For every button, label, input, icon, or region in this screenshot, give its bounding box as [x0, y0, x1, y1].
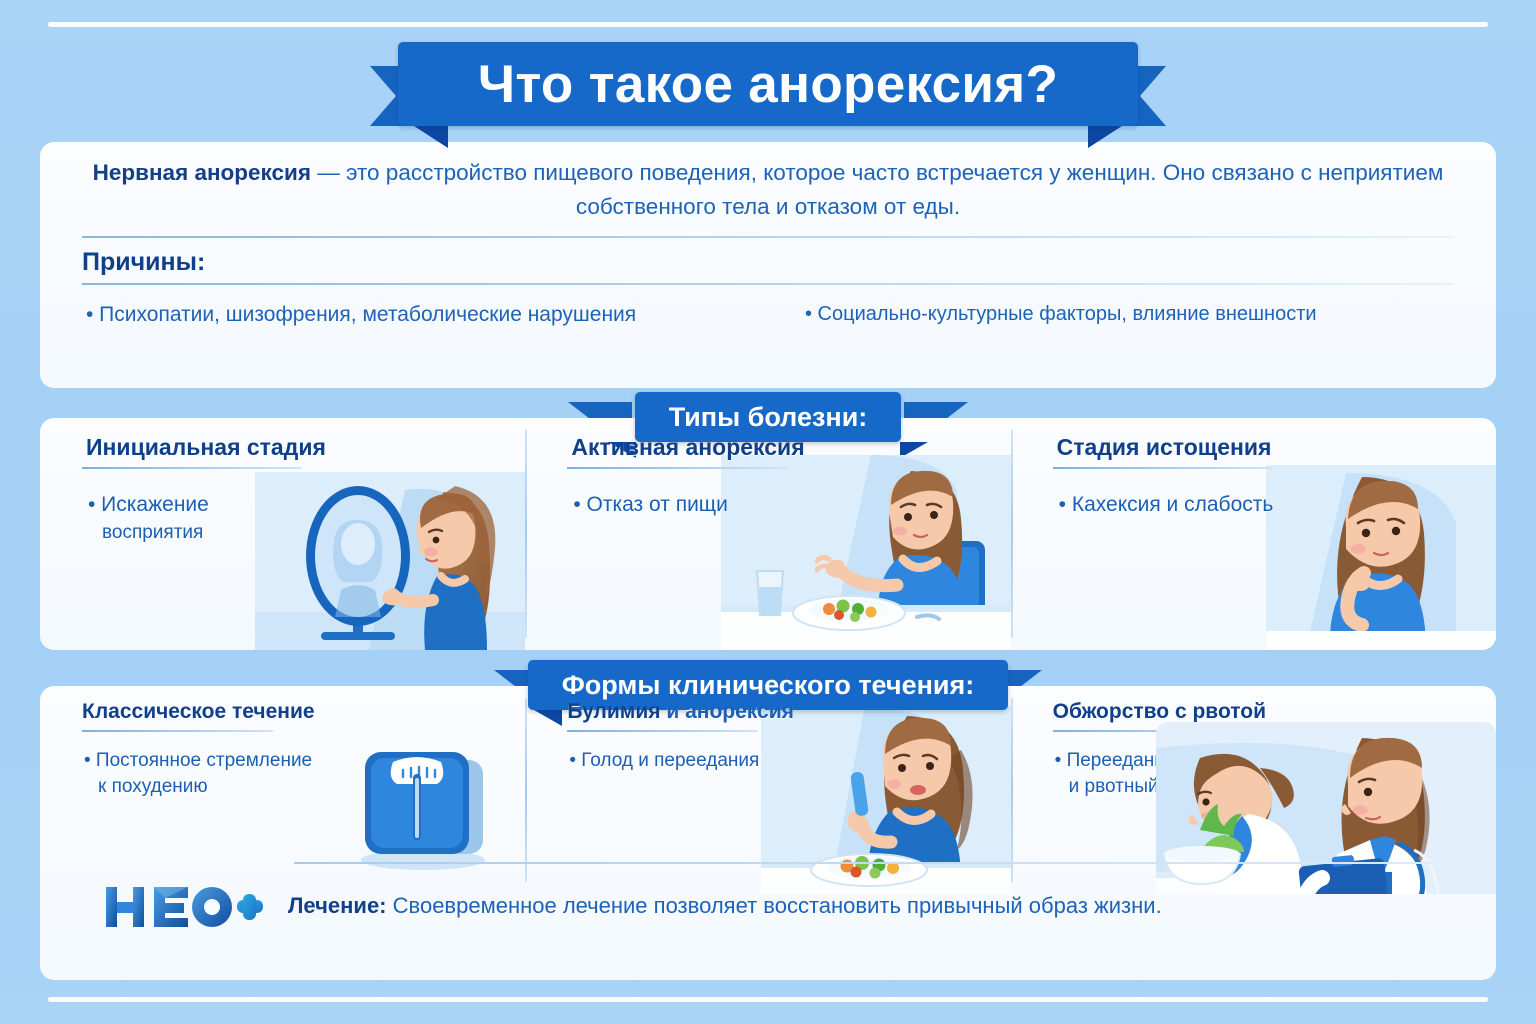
page-title: Что такое анорексия?: [398, 42, 1138, 126]
form-bullet: • Голод и переедания: [525, 732, 816, 774]
top-accent-rule: [48, 22, 1488, 27]
type-bullet-main: • Искажение: [88, 493, 209, 516]
type-heading: Стадия истощения: [1011, 418, 1496, 467]
intro-paragraph: Нервная анорексия — это расстройство пищ…: [40, 142, 1496, 224]
type-bullet-main: • Отказ от пищи: [573, 493, 727, 516]
forms-card: Классическое течение • Постоянное стремл…: [40, 686, 1496, 980]
type-bullet-main: • Кахексия и слабость: [1059, 493, 1274, 516]
bottom-accent-rule: [48, 997, 1488, 1002]
type-column-initial: Инициальная стадия • Искажение восприяти…: [40, 418, 525, 650]
form-heading-light: и анорексия: [661, 700, 794, 723]
causes-heading: Причины:: [40, 238, 1496, 283]
treatment-body: Своевременное лечение позволяет восстано…: [387, 893, 1162, 918]
treatment-label: Лечение:: [288, 893, 387, 918]
form-bullet-sub: к похудению: [84, 774, 331, 800]
intro-term: Нервная анорексия: [93, 160, 311, 185]
form-bullet-main: • Постоянное стремление: [84, 750, 312, 771]
causes-list: • Психопатии, шизофрения, метаболические…: [40, 285, 1496, 327]
form-heading-main: Обжорство с рвотой: [1053, 700, 1266, 723]
cause-item-1: • Психопатии, шизофрения, метаболические…: [86, 303, 747, 327]
footer-bar: Лечение: Своевременное лечение позволяет…: [104, 876, 1432, 936]
form-heading: Классическое течение: [40, 686, 525, 730]
logo-icon: [104, 879, 264, 933]
type-column-exhaustion: Стадия истощения • Кахексия и слабость: [1011, 418, 1496, 650]
treatment-text: Лечение: Своевременное лечение позволяет…: [288, 893, 1162, 919]
intro-card: Нервная анорексия — это расстройство пищ…: [40, 142, 1496, 388]
form-bullet-main: • Голод и переедания: [569, 750, 759, 771]
type-heading: Инициальная стадия: [40, 418, 525, 467]
form-heading-main: Булимия: [567, 700, 660, 723]
title-banner: Что такое анорексия?: [0, 42, 1536, 152]
type-bullet: • Кахексия и слабость: [1011, 469, 1312, 519]
types-card: Инициальная стадия • Искажение восприяти…: [40, 418, 1496, 650]
intro-lead-text: — это расстройство пищевого поведения, к…: [311, 160, 1443, 219]
infographic-page: Что такое анорексия? Нервная анорексия —…: [0, 0, 1536, 1024]
form-heading: Булимия и анорексия: [525, 686, 1010, 730]
type-heading: Активная анорексия: [525, 418, 1010, 467]
cause-item-2: • Социально-культурные факторы, влияние …: [787, 303, 1466, 327]
type-bullet-sub: восприятия: [88, 519, 341, 547]
type-column-active: Активная анорексия • Отказ от пищи: [525, 418, 1010, 650]
footer-divider: [294, 862, 1432, 864]
types-columns: Инициальная стадия • Искажение восприяти…: [40, 418, 1496, 650]
weight-scale-illustration: [349, 744, 499, 872]
form-bullet: • Постоянное стремление к похудению: [40, 732, 331, 800]
form-heading-main: Классическое течение: [82, 700, 315, 723]
neo-plus-logo: [104, 879, 264, 933]
vomiting-and-doctor-illustration: [1156, 722, 1496, 894]
type-bullet: • Отказ от пищи: [525, 469, 826, 519]
type-bullet: • Искажение восприятия: [40, 469, 341, 547]
